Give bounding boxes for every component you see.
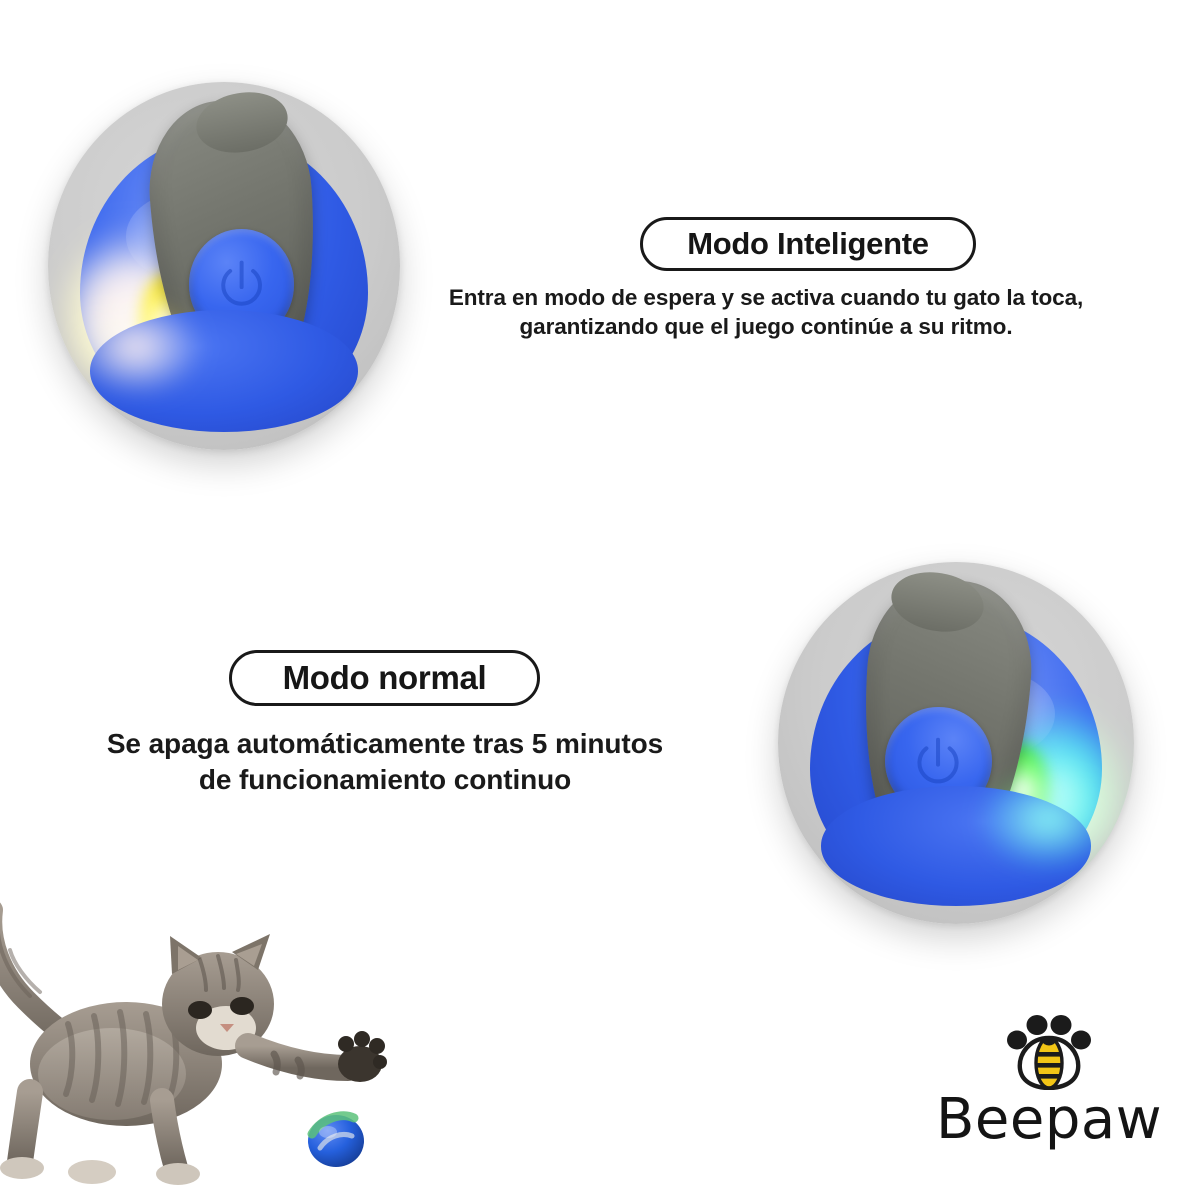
- smart-mode-description-line-1: Entra en modo de espera y se activa cuan…: [430, 284, 1102, 313]
- paw-toe: [1027, 1015, 1048, 1035]
- smart-mode-title-pill: Modo Inteligente: [640, 217, 976, 271]
- paw-toe: [1007, 1031, 1027, 1050]
- power-icon: [211, 252, 272, 316]
- cat-paw: [156, 1163, 200, 1185]
- cat-paw: [0, 1157, 44, 1179]
- product-photo-clip: [48, 82, 400, 450]
- ball-front-rim-glow: [76, 303, 196, 391]
- kitten-photo: [0, 896, 416, 1196]
- cat-hind-leg-left: [20, 1092, 30, 1162]
- smart-mode-product-image: [48, 82, 400, 450]
- bee-body: [1036, 1037, 1062, 1089]
- smart-mode-title: Modo Inteligente: [687, 226, 928, 262]
- cat-paw: [68, 1160, 116, 1184]
- power-icon: [907, 730, 969, 793]
- infographic-canvas: Modo Inteligente Entra en modo de espera…: [0, 0, 1200, 1200]
- normal-mode-product-image: [778, 562, 1134, 924]
- smart-mode-description: Entra en modo de espera y se activa cuan…: [430, 284, 1102, 342]
- toy-ball: [308, 1115, 364, 1167]
- smart-mode-description-line-2: garantizando que el juego continúe a su …: [430, 313, 1102, 342]
- bee-paw-icon: [1006, 1014, 1092, 1090]
- brand-wordmark: Beepaw: [936, 1092, 1162, 1148]
- brand-logo: Beepaw: [938, 1014, 1160, 1148]
- paw-toe: [1051, 1015, 1072, 1035]
- cat-eye-right: [230, 997, 254, 1015]
- cat-front-leg-standing: [162, 1100, 176, 1168]
- cat-reaching-paw: [338, 1031, 387, 1082]
- cat-eye-left: [188, 1001, 212, 1019]
- bee-paw-glyph: [1006, 1014, 1092, 1090]
- product-photo-clip: [778, 562, 1134, 924]
- normal-mode-title: Modo normal: [283, 659, 487, 697]
- normal-mode-title-pill: Modo normal: [229, 650, 540, 706]
- normal-mode-description-line-1: Se apaga automáticamente tras 5 minutos: [20, 726, 750, 762]
- paw-toe: [1071, 1031, 1091, 1050]
- normal-mode-description: Se apaga automáticamente tras 5 minutos …: [20, 726, 750, 798]
- normal-mode-description-line-2: de funcionamiento continuo: [20, 762, 750, 798]
- kitten-illustration: [0, 896, 416, 1196]
- ball-front-rim-glow: [984, 772, 1112, 866]
